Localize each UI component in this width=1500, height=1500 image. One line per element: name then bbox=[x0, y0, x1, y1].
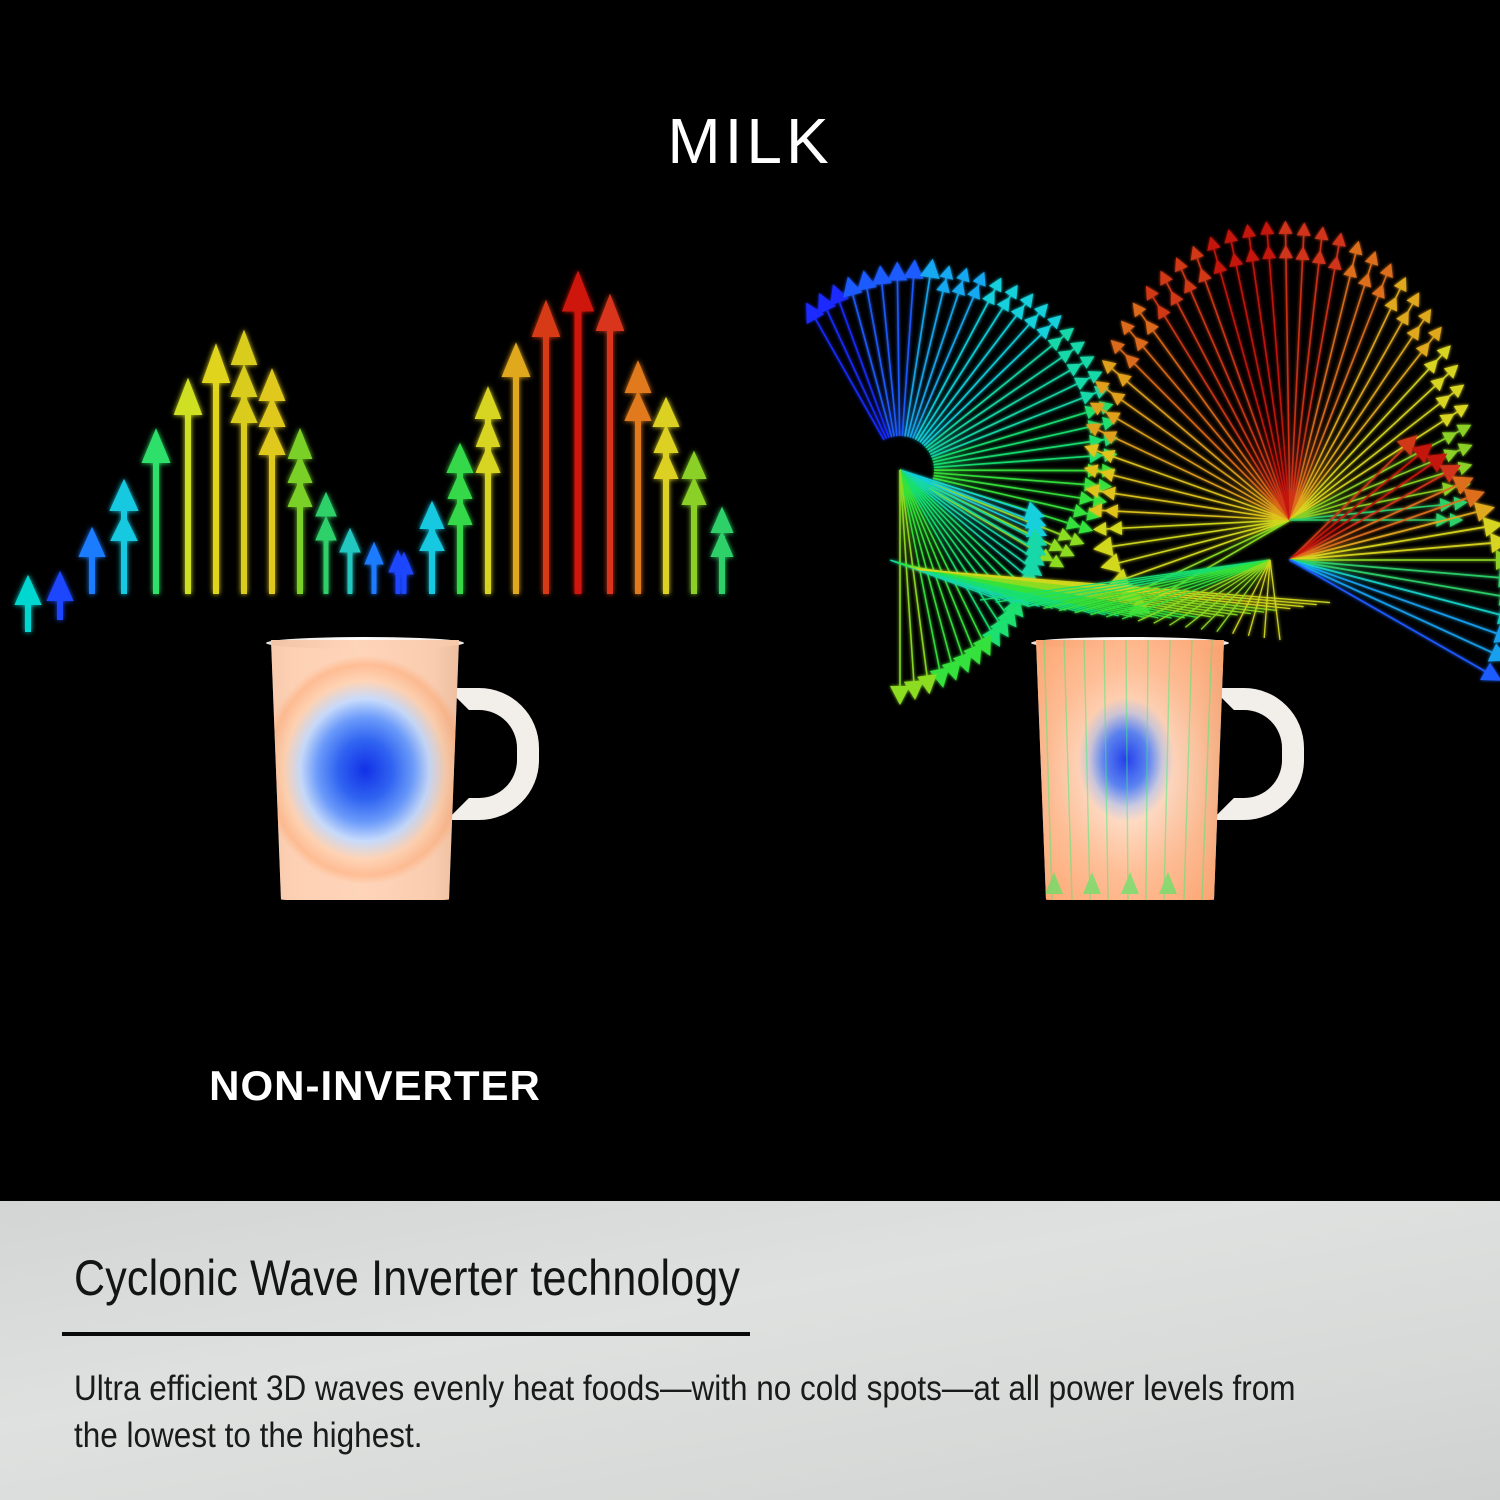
heat-map-cold-spot bbox=[265, 640, 465, 900]
caption-heading: Cyclonic Wave Inverter technology bbox=[74, 1249, 740, 1307]
cyclone-right-fan bbox=[1082, 220, 1500, 689]
non-inverter-mug bbox=[235, 640, 545, 902]
cyclonic-inverter-mug bbox=[1000, 640, 1310, 902]
non-inverter-panel: NON-INVERTER bbox=[0, 0, 750, 1201]
non-inverter-label: NON-INVERTER bbox=[0, 1062, 750, 1110]
mug-handle bbox=[447, 688, 539, 820]
mug-ray-overlay bbox=[1030, 640, 1230, 900]
cyclonic-inverter-panel: CYCLONIC INVERTER bbox=[750, 0, 1500, 1201]
mug-handle bbox=[1212, 688, 1304, 820]
caption-body-text: Ultra efficient 3D waves evenly heat foo… bbox=[74, 1366, 1307, 1459]
product-feature-graphic: MILK bbox=[0, 0, 1500, 1500]
wave-arrow-group bbox=[19, 280, 729, 632]
cyclone-through-rays bbox=[890, 560, 1330, 640]
non-inverter-wave-diagram bbox=[0, 0, 750, 1201]
caption-panel: Cyclonic Wave Inverter technology Ultra … bbox=[0, 1201, 1500, 1500]
caption-divider bbox=[62, 1332, 750, 1336]
hero-panel: MILK bbox=[0, 0, 1500, 1201]
cyclonic-inverter-wave-diagram bbox=[750, 0, 1500, 1201]
